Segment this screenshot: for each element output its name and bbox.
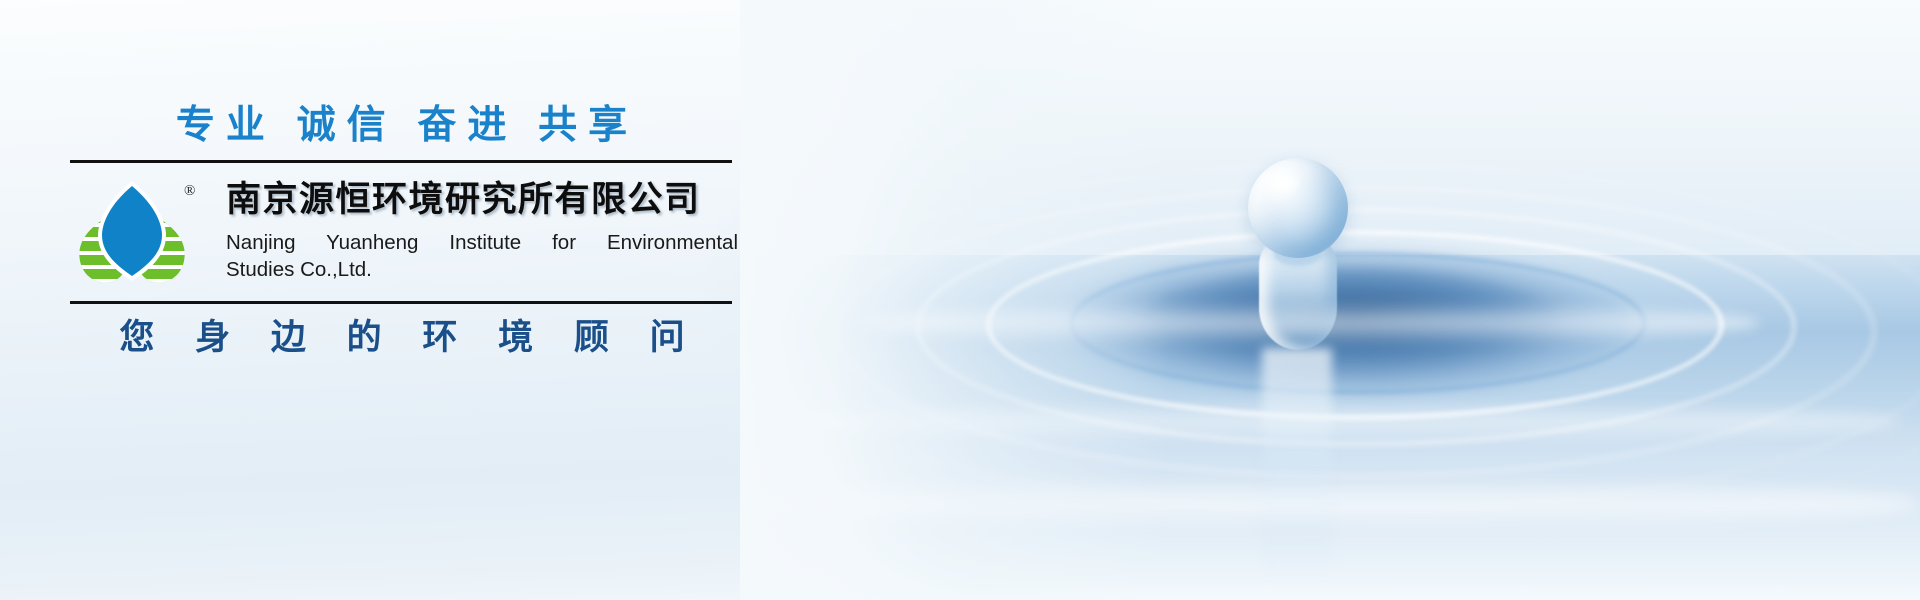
droplet-reflection xyxy=(1262,348,1332,578)
company-name-chinese: 南京源恒环境研究所有限公司 xyxy=(226,179,738,221)
water-droplet-photo xyxy=(740,0,1920,600)
photo-left-fade xyxy=(740,0,1170,600)
tagline-bottom: 您 身 边 的 环 境 顾 问 xyxy=(70,310,732,370)
company-logo-mark: ® xyxy=(76,177,188,289)
company-name-english-line-1: Nanjing Yuanheng Institute for Environme… xyxy=(226,229,738,256)
company-name-english: Nanjing Yuanheng Institute for Environme… xyxy=(226,229,738,283)
logo-svg xyxy=(76,177,188,289)
registered-trademark-symbol: ® xyxy=(184,183,195,200)
identity-row: ® 南京源恒环境研究所有限公司 Nanjing Yuanheng Institu… xyxy=(70,163,732,301)
company-banner: 专业 诚信 奋进 共享 xyxy=(0,0,1920,600)
tagline-top: 专业 诚信 奋进 共享 xyxy=(70,100,732,156)
logo-identity-block: 专业 诚信 奋进 共享 xyxy=(70,100,732,370)
divider-bottom xyxy=(70,301,732,304)
company-name-english-line-2: Studies Co.,Ltd. xyxy=(226,256,738,283)
company-names: 南京源恒环境研究所有限公司 Nanjing Yuanheng Institute… xyxy=(226,177,738,283)
water-droplet-sphere xyxy=(1248,158,1348,258)
